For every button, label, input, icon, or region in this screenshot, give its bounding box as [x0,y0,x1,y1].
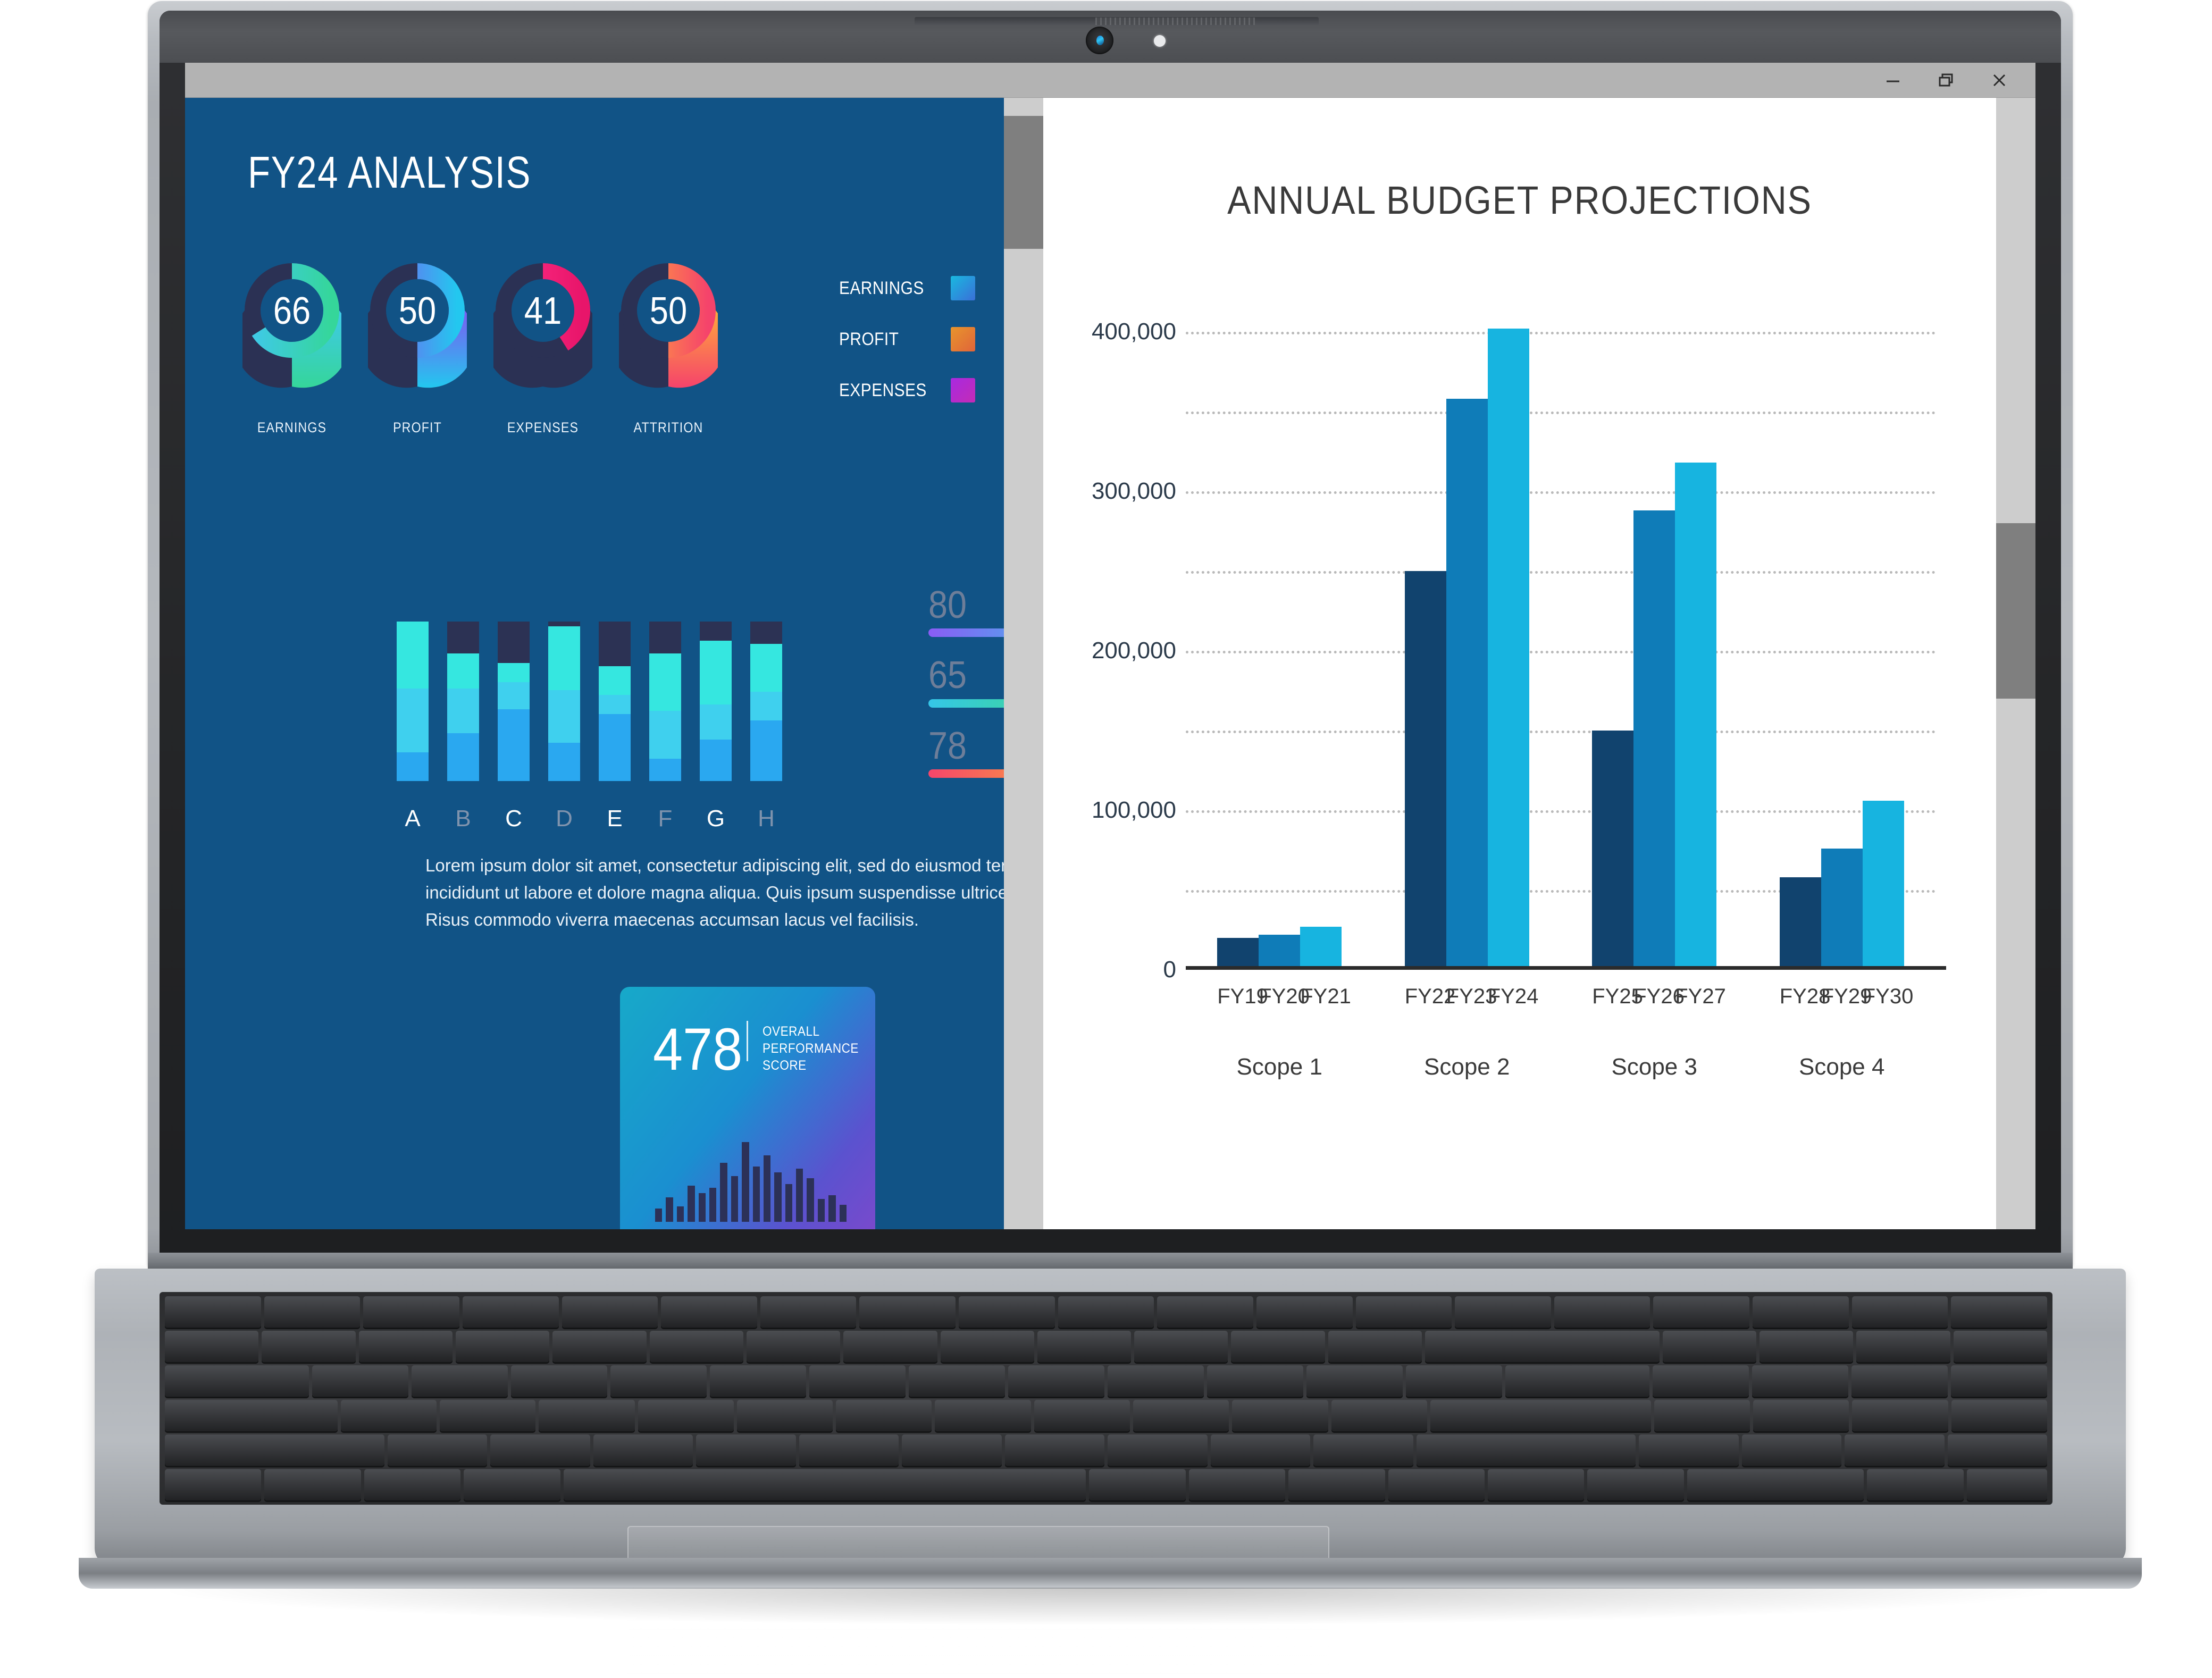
inner-scrollbar-thumb[interactable] [1004,116,1043,249]
chart-group-label: Scope 3 [1561,1054,1748,1080]
chart-group-scope-3: FY25FY26FY27Scope 3 [1561,300,1748,970]
keyboard-key[interactable] [747,1331,840,1362]
keyboard-key[interactable] [1948,1434,2048,1466]
keyboard-key[interactable] [1954,1331,2047,1362]
minibar-segment [700,622,732,641]
minibar-F: F [649,622,681,781]
minibar-segment [447,689,479,733]
gauge-value: 41 [499,289,586,333]
keyboard-row [165,1296,2047,1328]
minibar-segment [548,626,580,690]
close-button[interactable] [1973,63,2026,98]
slider-track[interactable] [928,699,1004,708]
minibar-segment [397,752,429,781]
performance-caption-line: OVERALL [763,1023,859,1040]
chart-x-tick-label: FY21 [1300,985,1342,1009]
keyboard-key[interactable] [359,1331,453,1362]
restore-button[interactable] [1920,63,1973,98]
keyboard-key[interactable] [490,1434,590,1466]
minibar-segment [498,663,530,682]
minibar-A: A [397,622,429,781]
keyboard-key[interactable] [760,1296,857,1328]
chart-x-tick-label: FY26 [1633,985,1675,1009]
legend-item-expenses: EXPENSES [839,365,999,416]
keyboard-key[interactable] [165,1400,338,1431]
screenshot-root: FY24 ANALYSIS 66EARNINGS50PROFIT41EXPENS… [0,0,2212,1678]
keyboard-key[interactable] [1759,1331,1853,1362]
chart-x-ticks: FY19FY20FY21 [1186,985,1373,1009]
chart-y-tick-label: 100,000 [1092,797,1176,824]
minibar-segment [548,690,580,743]
chart-x-ticks: FY25FY26FY27 [1561,985,1748,1009]
minibar-segment [599,622,631,666]
keyboard-key[interactable] [1852,1296,1948,1328]
keyboard-key[interactable] [1207,1365,1303,1397]
minibar-label: H [750,806,782,832]
keyboard-key[interactable] [1654,1400,1750,1431]
sparkline-bar [753,1167,760,1222]
minibar-segment [750,720,782,781]
window-scrollbar[interactable] [1996,98,2035,1229]
keyboard-key[interactable] [165,1296,261,1328]
minibar-segment [498,709,530,781]
laptop-keyboard[interactable] [160,1292,2052,1505]
keyboard-key[interactable] [859,1296,956,1328]
keyboard-key[interactable] [696,1434,796,1466]
chart-x-tick-label: FY27 [1675,985,1716,1009]
legend-label: PROFIT [839,329,937,350]
keyboard-key[interactable] [1313,1434,1413,1466]
gauge-value: 50 [374,289,461,333]
performance-caption-line: SCORE [763,1057,859,1074]
keyboard-key[interactable] [1455,1296,1551,1328]
slider-value: 80 [928,587,1004,623]
keyboard-row [165,1434,2047,1466]
webcam-lens-icon [1096,36,1104,45]
chart-x-tick-label: FY22 [1405,985,1446,1009]
keyboard-key[interactable] [1008,1365,1104,1397]
keyboard-key[interactable] [165,1434,384,1466]
window-controls [1866,63,2026,98]
slider-row[interactable]: 65 [928,657,1004,707]
inner-scrollbar[interactable] [1004,98,1043,1229]
keyboard-key[interactable] [799,1434,899,1466]
gauge-earnings: 66EARNINGS [242,257,354,412]
gauge-profit: 50PROFIT [368,257,480,412]
keyboard-key[interactable] [1951,1365,2047,1397]
keyboard-key[interactable] [564,1469,1086,1500]
laptop-drop-shadow [170,1588,2047,1625]
chart-bar[interactable] [1446,399,1488,970]
minibar-label: C [498,806,530,832]
sparkline-bar [840,1205,847,1222]
keyboard-key[interactable] [1587,1469,1683,1500]
chart-bar[interactable] [1780,877,1821,970]
performance-caption-line: PERFORMANCE [763,1040,859,1057]
keyboard-key[interactable] [593,1434,693,1466]
chart-x-tick-label: FY23 [1446,985,1488,1009]
minibar-segment [750,692,782,720]
keyboard-key[interactable] [165,1469,261,1500]
performance-score-card: 478 OVERALLPERFORMANCESCORE [620,987,875,1229]
minibar-segment [750,644,782,692]
chart-x-tick-label: FY24 [1488,985,1529,1009]
keyboard-key[interactable] [1752,1365,1848,1397]
sparkline-bar [655,1209,662,1222]
keyboard-key[interactable] [1653,1296,1749,1328]
keyboard-key[interactable] [650,1331,743,1362]
performance-score-value: 478 [653,1020,742,1079]
keyboard-key[interactable] [412,1365,508,1397]
minibar-B: B [447,622,479,781]
minibar-segment [447,622,479,653]
deck-title: FY24 ANALYSIS [248,147,531,198]
chart-bar[interactable] [1259,935,1300,970]
minibar-label: G [700,806,732,832]
keyboard-key[interactable] [809,1365,906,1397]
keyboard-key[interactable] [1306,1365,1403,1397]
keyboard-key[interactable] [909,1365,1005,1397]
keyboard-key[interactable] [511,1365,607,1397]
sparkline-bar [796,1169,803,1222]
keyboard-key[interactable] [1967,1469,2047,1500]
minibar-G: G [700,622,732,781]
chart-x-ticks: FY28FY29FY30 [1748,985,1936,1009]
slider-value: 78 [928,728,1004,764]
chart-group-label: Scope 4 [1748,1054,1936,1080]
keyboard-key[interactable] [1851,1365,1948,1397]
keyboard-key[interactable] [1058,1296,1154,1328]
minibar-segment [700,641,732,704]
keyboard-key[interactable] [1430,1400,1651,1431]
webcam-icon [1086,27,1113,54]
chart-bar-row [1373,300,1561,970]
keyboard-key[interactable] [1753,1296,1849,1328]
keyboard-key[interactable] [1134,1331,1228,1362]
keyboard-key[interactable] [262,1331,355,1362]
chart-bar[interactable] [1217,938,1259,970]
chart-x-tick-label: FY19 [1217,985,1259,1009]
minibar-segment [649,622,681,653]
dashboard-deck-panel: FY24 ANALYSIS 66EARNINGS50PROFIT41EXPENS… [185,98,1004,1229]
slider-track[interactable] [928,628,1004,637]
keyboard-key[interactable] [941,1331,1034,1362]
slider-value: 65 [928,657,1004,693]
window-scrollbar-thumb[interactable] [1996,523,2035,699]
keyboard-key[interactable] [388,1434,488,1466]
keyboard-key[interactable] [364,1469,460,1500]
minibar-segment [700,704,732,740]
chart-bar[interactable] [1488,329,1529,970]
keyboard-key[interactable] [1852,1400,1948,1431]
gauge-value: 50 [625,289,712,333]
keyboard-key[interactable] [264,1469,361,1500]
minibar-label: A [397,806,429,832]
minibar-segment [447,733,479,781]
sparkline-bar [774,1172,781,1222]
sparkline-bar [677,1206,684,1222]
keyboard-key[interactable] [1951,1296,2047,1328]
gauge-label: ATTRITION [618,419,719,436]
minibar-segment [548,622,580,626]
minibar-segment [599,666,631,695]
chart-x-ticks: FY22FY23FY24 [1373,985,1561,1009]
keyboard-key[interactable] [1639,1434,1739,1466]
keyboard-key[interactable] [312,1365,408,1397]
keyboard-key[interactable] [1687,1469,1864,1500]
chart-title: ANNUAL BUDGET PROJECTIONS [1091,178,1949,223]
slider-track[interactable] [928,769,1004,778]
keyboard-key[interactable] [1108,1365,1204,1397]
keyboard-key[interactable] [1189,1469,1285,1500]
sparkline-bar [818,1199,825,1222]
minibar-segment [397,622,429,689]
gauge-value: 66 [248,289,336,333]
keyboard-key[interactable] [1753,1400,1849,1431]
chart-bar[interactable] [1821,849,1863,970]
keyboard-key[interactable] [1951,1400,2047,1431]
keyboard-key[interactable] [902,1434,1002,1466]
keyboard-key[interactable] [1663,1331,1756,1362]
keyboard-key[interactable] [661,1296,757,1328]
slider-row[interactable]: 80 [928,587,1004,637]
minibar-C: C [498,622,530,781]
chart-bar[interactable] [1405,571,1446,970]
sparkline-bar [699,1193,706,1222]
legend: EARNINGSPROFITEXPENSES [839,263,999,416]
chart-bar[interactable] [1300,927,1342,970]
keyboard-key[interactable] [165,1365,309,1397]
deck-paragraph-1: Lorem ipsum dolor sit amet, consectetur … [425,852,1004,933]
minibar-segment [649,759,681,781]
keyboard-key[interactable] [1089,1469,1185,1500]
minibar-E: E [599,622,631,781]
keyboard-key[interactable] [1108,1434,1208,1466]
window-body: FY24 ANALYSIS 66EARNINGS50PROFIT41EXPENS… [185,98,2035,1229]
minibar-H: H [750,622,782,781]
keyboard-key[interactable] [1288,1469,1385,1500]
legend-swatch [951,276,975,300]
minibar-segment [498,682,530,709]
chart-y-tick-label: 200,000 [1092,637,1176,664]
keyboard-key[interactable] [1742,1434,1842,1466]
minibar-segment [750,622,782,644]
chart-y-tick-label: 400,000 [1092,318,1176,345]
legend-label: EARNINGS [839,278,937,299]
performance-card-divider [747,1021,748,1061]
keyboard-key[interactable] [464,1469,560,1500]
chart-y-tick-label: 300,000 [1092,478,1176,505]
chart-x-tick-label: FY28 [1780,985,1821,1009]
keyboard-key[interactable] [1417,1434,1636,1466]
keyboard-key[interactable] [843,1331,937,1362]
keyboard-key[interactable] [1133,1400,1229,1431]
keyboard-row [165,1469,2047,1500]
chart-bar[interactable] [1633,510,1675,970]
keyboard-key[interactable] [440,1400,535,1431]
minibar-segment [599,714,631,781]
chart-y-axis: 0100,000200,000300,000400,000 [1043,300,1176,970]
keyboard-key[interactable] [1231,1331,1325,1362]
keyboard-key[interactable] [1232,1400,1328,1431]
keyboard-key[interactable] [959,1296,1055,1328]
chart-group-scope-2: FY22FY23FY24Scope 2 [1373,300,1561,970]
minimize-button[interactable] [1866,63,1920,98]
legend-item-earnings: EARNINGS [839,263,999,314]
sparkline-bar [828,1195,835,1222]
chart-y-tick-label: 0 [1163,957,1176,983]
keyboard-key[interactable] [1653,1365,1749,1397]
chart-x-tick-label: FY20 [1259,985,1300,1009]
minibar-segment [700,740,732,781]
legend-swatch [951,378,975,402]
keyboard-key[interactable] [610,1365,707,1397]
legend-item-profit: PROFIT [839,314,999,365]
sparkline-bar [742,1142,749,1222]
gauge-label: EARNINGS [241,419,343,436]
gauge-attrition: 50ATTRITION [619,257,731,412]
legend-swatch [951,327,975,351]
chart-bar-row [1186,300,1373,970]
chart-x-tick-label: FY29 [1821,985,1863,1009]
gauge-label: EXPENSES [492,419,594,436]
minibar-label: E [599,806,631,832]
chart-group-scope-4: FY28FY29FY30Scope 4 [1748,300,1936,970]
chart-bar-groups: FY19FY20FY21Scope 1FY22FY23FY24Scope 2FY… [1186,300,1935,970]
minibar-label: B [447,806,479,832]
minibar-segment [649,711,681,759]
gauge-expenses: 41EXPENSES [493,257,605,412]
chart-group-scope-1: FY19FY20FY21Scope 1 [1186,300,1373,970]
laptop-base-lip [79,1558,2142,1589]
chart-x-axis-line [1186,966,1946,970]
keyboard-key[interactable] [737,1400,833,1431]
keyboard-key[interactable] [562,1296,658,1328]
keyboard-key[interactable] [1328,1331,1422,1362]
camera-indicator-led-icon [1154,35,1166,47]
minibar-segment [498,622,530,663]
keyboard-key[interactable] [1037,1331,1131,1362]
slider-group: 806578 [928,587,1004,798]
keyboard-key[interactable] [1856,1331,1950,1362]
sparkline-bar [688,1186,694,1222]
performance-sparkline [655,1142,847,1222]
keyboard-key[interactable] [1406,1365,1502,1397]
keyboard-key[interactable] [456,1331,549,1362]
minibar-segment [649,653,681,711]
window-titlebar[interactable] [185,63,2035,98]
keyboard-key[interactable] [1505,1365,1649,1397]
keyboard-row [165,1365,2047,1397]
keyboard-key[interactable] [165,1331,258,1362]
keyboard-key[interactable] [1005,1434,1105,1466]
performance-score-caption: OVERALLPERFORMANCESCORE [763,1023,859,1074]
chart-bar-row [1561,300,1748,970]
sparkline-bar [731,1176,738,1222]
gauge-label: PROFIT [367,419,468,436]
chart-x-tick-label: FY30 [1863,985,1904,1009]
keyboard-key[interactable] [1211,1434,1311,1466]
keyboard-key[interactable] [1157,1296,1253,1328]
chart-x-tick-label: FY25 [1592,985,1633,1009]
laptop-screen: FY24 ANALYSIS 66EARNINGS50PROFIT41EXPENS… [185,63,2035,1229]
minibar-label: F [649,806,681,832]
chart-group-label: Scope 1 [1186,1054,1373,1080]
sparkline-bar [709,1188,716,1222]
stacked-minibar-chart: ABCDEFGH [397,606,790,781]
keyboard-key[interactable] [539,1400,634,1431]
legend-label: EXPENSES [839,380,937,401]
keyboard-key[interactable] [1331,1400,1427,1431]
keyboard-key[interactable] [363,1296,459,1328]
keyboard-key[interactable] [710,1365,806,1397]
chart-plot-area: 0100,000200,000300,000400,000 FY19FY20FY… [1186,300,1935,970]
minibar-label: D [548,806,580,832]
minibar-segment [599,695,631,714]
keyboard-key[interactable] [836,1400,932,1431]
sparkline-bar [785,1184,792,1222]
keyboard-key[interactable] [1554,1296,1650,1328]
keyboard-key[interactable] [1034,1400,1130,1431]
sparkline-bar [720,1163,727,1222]
keyboard-row [165,1400,2047,1431]
chart-bar[interactable] [1675,463,1716,970]
keyboard-key[interactable] [1425,1331,1660,1362]
chart-pane: ANNUAL BUDGET PROJECTIONS 0100,000200,00… [1043,98,1996,1229]
keyboard-key[interactable] [264,1296,361,1328]
microphone-grille-icon [1095,18,1255,25]
keyboard-key[interactable] [1845,1434,1945,1466]
slider-row[interactable]: 78 [928,728,1004,778]
minibar-segment [397,689,429,752]
keyboard-key[interactable] [1388,1469,1485,1500]
sparkline-bar [764,1155,770,1222]
chart-bar[interactable] [1863,801,1904,970]
minibar-segment [447,653,479,689]
sparkline-bar [807,1178,814,1222]
keyboard-key[interactable] [552,1331,646,1362]
keyboard-key[interactable] [1488,1469,1584,1500]
chart-group-label: Scope 2 [1373,1054,1561,1080]
keyboard-key[interactable] [935,1400,1030,1431]
keyboard-key[interactable] [1356,1296,1452,1328]
keyboard-key[interactable] [1867,1469,1963,1500]
chart-bar-row [1748,300,1936,970]
chart-bar[interactable] [1592,731,1633,970]
keyboard-key[interactable] [463,1296,559,1328]
keyboard-key[interactable] [341,1400,437,1431]
keyboard-key[interactable] [638,1400,734,1431]
keyboard-key[interactable] [1256,1296,1353,1328]
minibar-segment [548,743,580,781]
minibar-D: D [548,622,580,781]
sparkline-bar [666,1197,673,1222]
keyboard-row [165,1331,2047,1362]
